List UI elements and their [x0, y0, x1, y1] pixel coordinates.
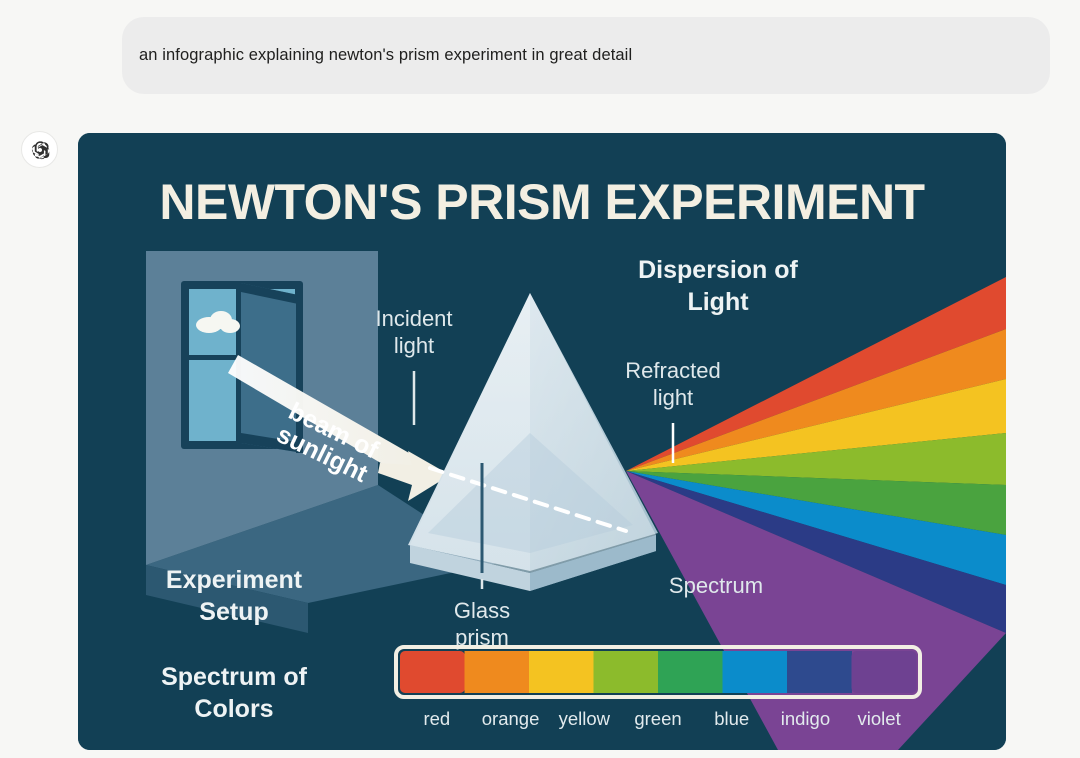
- swatch-label-blue: blue: [714, 708, 749, 729]
- openai-logo-icon: [21, 131, 58, 168]
- swatch-labels-group: redorangeyellowgreenblueindigoviolet: [423, 708, 900, 729]
- swatch-label-orange: orange: [482, 708, 540, 729]
- swatch-indigo: [787, 651, 852, 693]
- swatch-orange: [465, 651, 530, 693]
- experiment-setup-line1: Experiment: [166, 566, 303, 594]
- swatch-fills-group: [400, 651, 917, 693]
- user-prompt-text: an infographic explaining newton's prism…: [139, 46, 632, 65]
- swatch-blue: [723, 651, 788, 693]
- spectrum-label: Spectrum: [669, 573, 763, 598]
- refracted-light-line1: Refracted: [625, 358, 720, 383]
- refracted-light-line2: light: [653, 385, 693, 410]
- swatch-label-red: red: [423, 708, 450, 729]
- swatch-label-violet: violet: [858, 708, 901, 729]
- swatch-label-green: green: [634, 708, 681, 729]
- experiment-setup-line2: Setup: [199, 598, 268, 626]
- spectrum-of-colors-line1: Spectrum of: [161, 663, 308, 691]
- spectrum-of-colors-line2: Colors: [194, 695, 273, 723]
- swatch-label-yellow: yellow: [559, 708, 611, 729]
- swatch-green: [658, 651, 723, 693]
- infographic-illustration: NEWTON'S PRISM EXPERIMENT: [78, 133, 1006, 750]
- swatch-8cbb2c: [594, 651, 659, 693]
- infographic-card: NEWTON'S PRISM EXPERIMENT: [78, 133, 1006, 750]
- dispersion-line2: Light: [687, 288, 749, 316]
- swatch-yellow: [529, 651, 594, 693]
- user-prompt-bubble[interactable]: an infographic explaining newton's prism…: [122, 17, 1050, 94]
- incident-light-line2: light: [394, 333, 434, 358]
- glass-prism-line1: Glass: [454, 598, 510, 623]
- dispersion-line1: Dispersion of: [638, 256, 798, 284]
- swatch-red: [400, 651, 465, 693]
- incident-light-line1: Incident: [375, 306, 452, 331]
- infographic-title: NEWTON'S PRISM EXPERIMENT: [159, 174, 924, 230]
- swatch-label-indigo: indigo: [781, 708, 830, 729]
- swatch-violet: [852, 651, 917, 693]
